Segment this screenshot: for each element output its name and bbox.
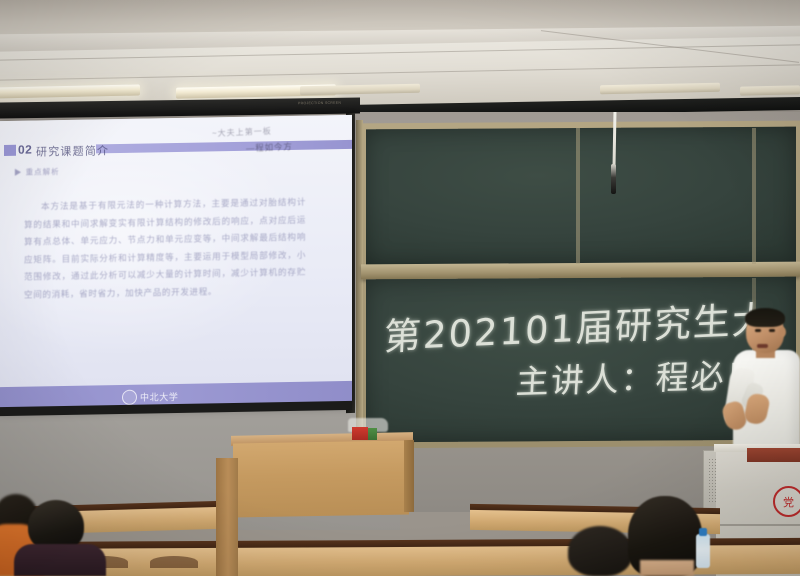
projection-screen: ~大夫上第一板 —程如今方 02 研究课题简介 ▶ 重点解析 本方法是基于有限元… [0,115,352,411]
water-bottle [696,534,710,568]
red-box [352,427,368,440]
desk-support [150,556,198,568]
hanging-microphone-icon [611,164,616,194]
slide-section-marker [4,145,16,156]
speaker-left-eye [755,329,761,332]
side-wood-panel [216,458,238,576]
podium-divider [716,524,800,526]
front-desk-panel [233,440,409,517]
green-box [368,428,377,440]
speaker-mouth [757,344,768,348]
slide-title: 研究课题简介 [36,142,109,159]
slide-section-number: 02 [18,143,32,157]
slide-body-text: 本方法是基于有限元法的一种计算方法，主要是通过对胎结构计算的结果和中间求解变实有… [24,194,306,304]
slide-footer-logo-text: 中北大学 [140,390,178,404]
podium-seal-icon: 党 [773,486,800,517]
slide-handwriting-overlay-2: —程如今方 [246,141,293,155]
blackboard-text-line2: 主讲人：程必良 [515,349,763,404]
speaker-hair [745,308,785,327]
blackboard-seam [752,128,756,264]
slide-bullet: ▶ 重点解析 [14,166,60,178]
projector-case-label: PROJECTION SCREEN [298,101,341,106]
lecture-hall-photo: 第202101届研究生大 主讲人：程必良 PROJECTION SCREEN ~… [0,0,800,576]
blackboard-upper-panel [366,127,796,266]
audience-shoulder [640,560,694,576]
front-desk-side [404,440,414,512]
blackboard-left-edge [356,120,363,440]
university-seal-icon [122,390,137,405]
audience-head [568,526,632,576]
slide-footer-logo: 中北大学 [122,389,178,405]
speaker-ear [779,327,786,337]
ceiling-light [740,85,800,95]
speaker-right-eye [769,329,775,332]
blackboard-seam [576,128,580,264]
podium-banner [747,448,800,462]
water-bottle-cap [699,528,707,536]
audience-body [14,544,106,576]
